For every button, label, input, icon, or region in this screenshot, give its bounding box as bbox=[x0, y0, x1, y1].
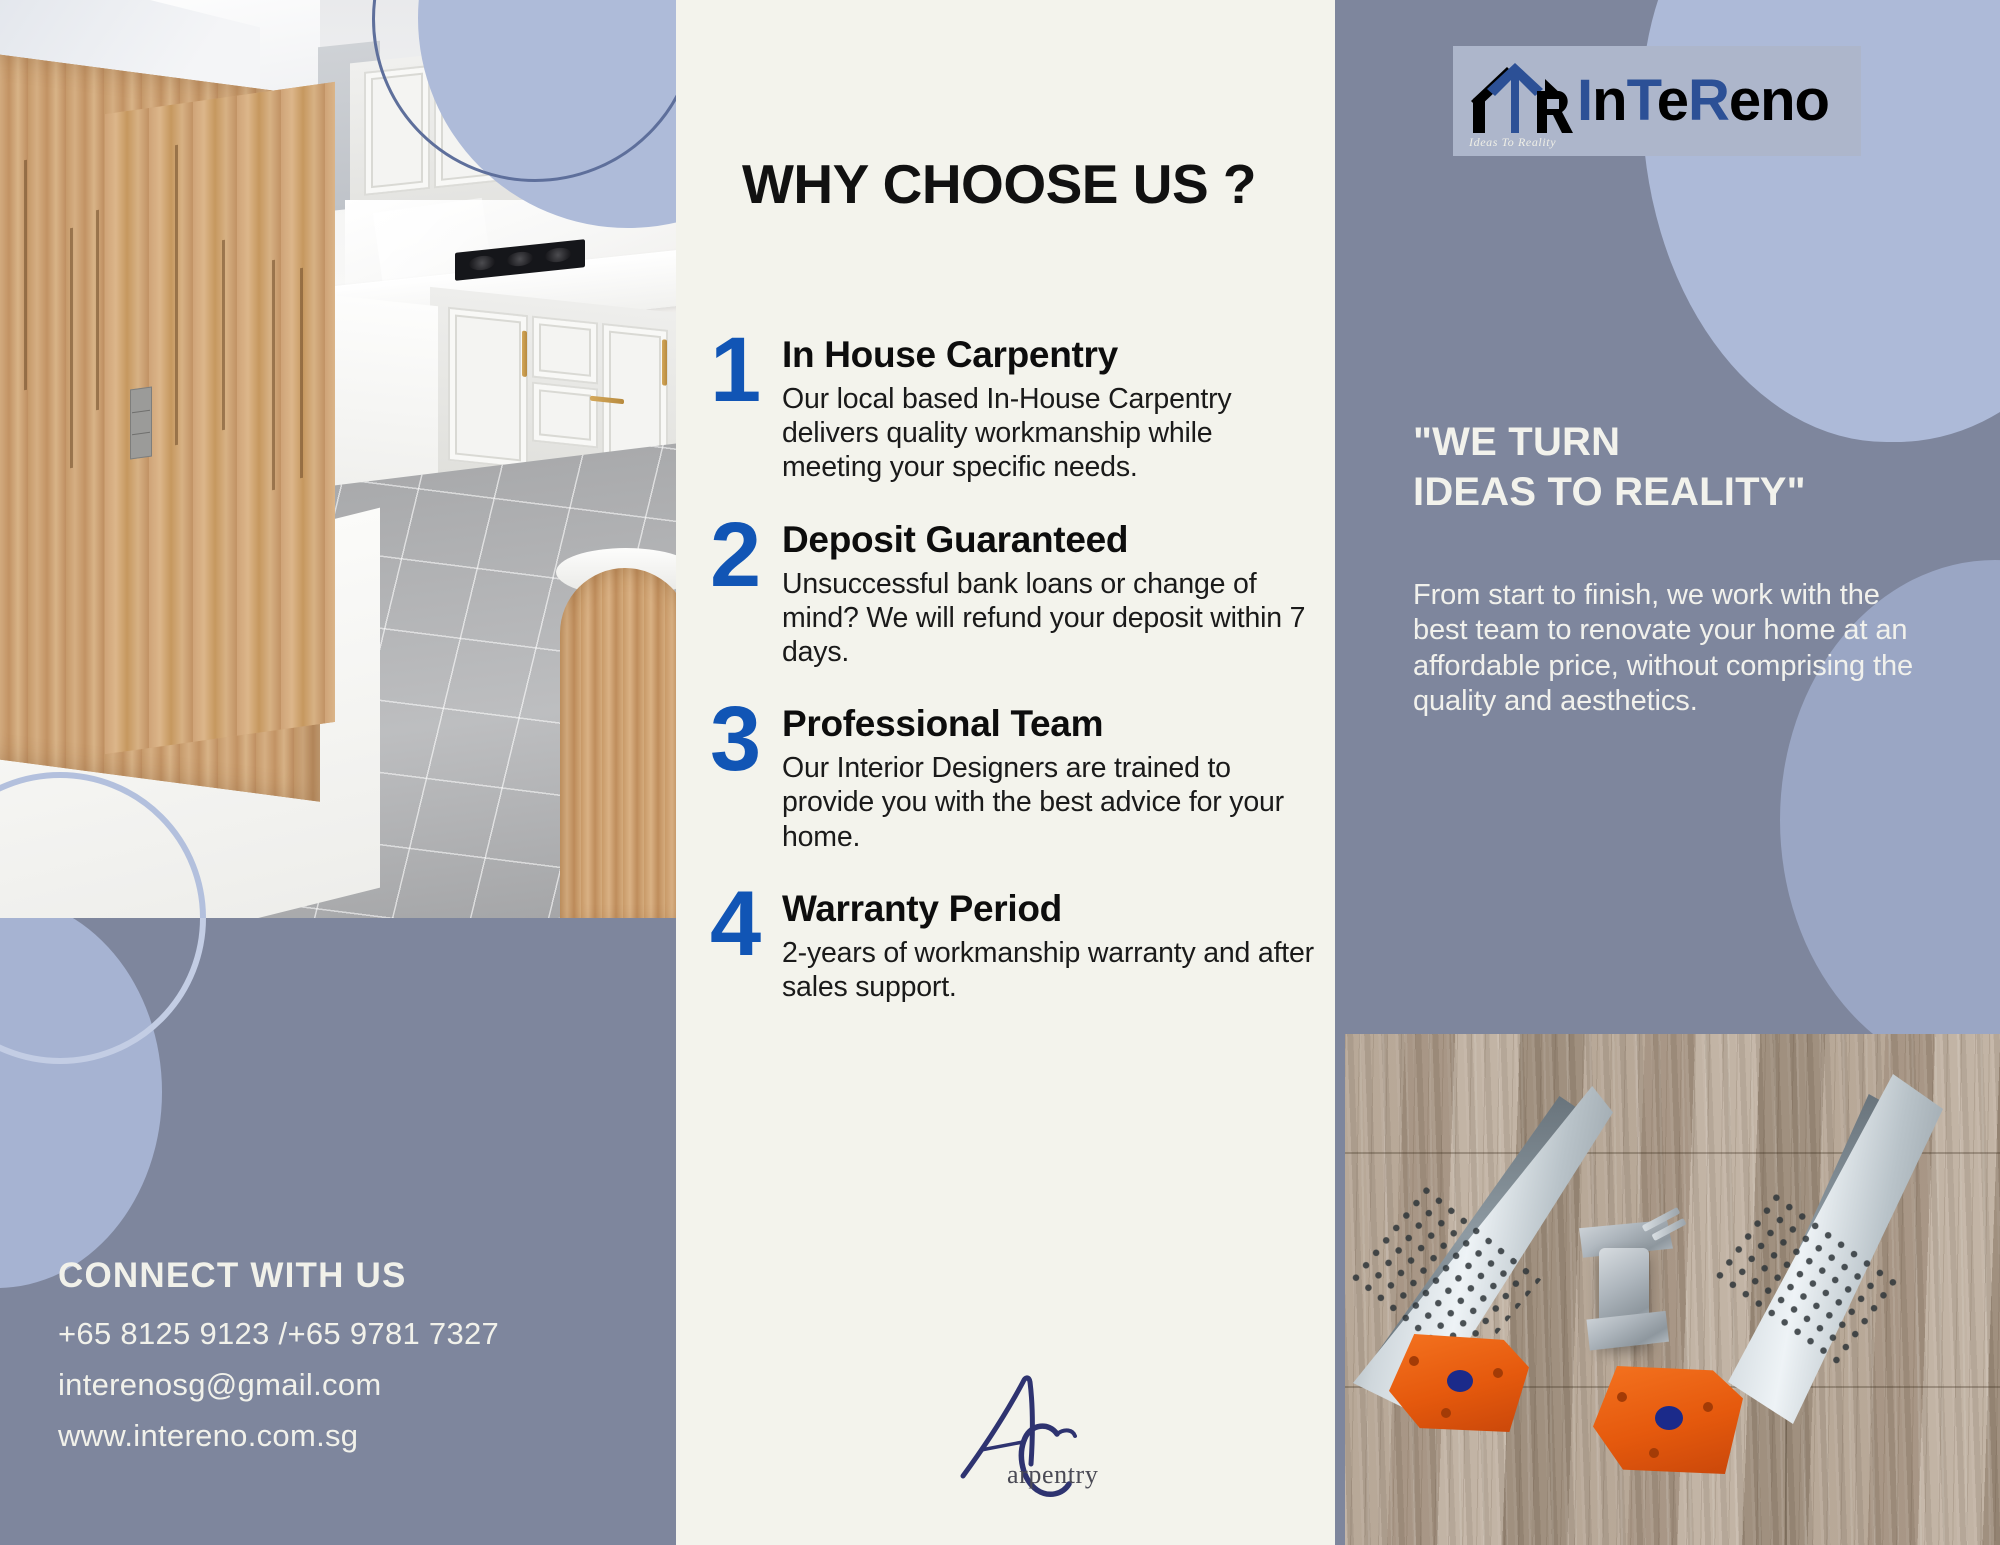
email-address[interactable]: interenosg@gmail.com bbox=[58, 1367, 638, 1403]
ac-carpentry-watermark: arpentry bbox=[945, 1372, 1115, 1507]
photo-burner bbox=[507, 251, 533, 268]
tagline-line-2: IDEAS TO REALITY" bbox=[1413, 468, 1933, 518]
drawer-slides-hardware-photo bbox=[1345, 1034, 2000, 1545]
feature-title: Professional Team bbox=[782, 703, 1320, 745]
photo-cabinet-handle bbox=[662, 339, 667, 386]
logo-wordmark: InTeReno bbox=[1577, 72, 1829, 130]
feature-item: 4 Warranty Period 2-years of workmanship… bbox=[710, 884, 1320, 1004]
feature-description: Our Interior Designers are trained to pr… bbox=[782, 751, 1320, 854]
feature-title: Warranty Period bbox=[782, 888, 1320, 930]
logo-letter: I bbox=[1577, 68, 1592, 133]
photo-clip-blue-lever bbox=[1655, 1406, 1683, 1430]
photo-clip-hole bbox=[1441, 1408, 1451, 1418]
logo-letter: e bbox=[1657, 68, 1688, 133]
photo-wood-groove bbox=[272, 260, 275, 490]
website-url[interactable]: www.intereno.com.sg bbox=[58, 1418, 638, 1454]
photo-wood-groove bbox=[222, 240, 225, 430]
feature-number: 4 bbox=[710, 884, 782, 965]
feature-number: 3 bbox=[710, 699, 782, 780]
ac-wordmark: arpentry bbox=[1007, 1460, 1098, 1490]
connect-with-us-title: CONNECT WITH US bbox=[58, 1256, 638, 1296]
logo-letter: R bbox=[1688, 68, 1729, 133]
feature-number: 2 bbox=[710, 515, 782, 596]
tagline-line-1: "WE TURN bbox=[1413, 418, 1933, 468]
feature-item: 2 Deposit Guaranteed Unsuccessful bank l… bbox=[710, 515, 1320, 670]
photo-clip-blue-lever bbox=[1447, 1370, 1473, 1392]
contact-block: CONNECT WITH US +65 8125 9123 /+65 9781 … bbox=[58, 1256, 638, 1469]
photo-clip-hole bbox=[1703, 1402, 1713, 1412]
photo-clip-hole bbox=[1409, 1356, 1419, 1366]
tagline-quote: "WE TURN IDEAS TO REALITY" bbox=[1413, 418, 1933, 517]
photo-cabinet-door bbox=[448, 307, 528, 469]
feature-title: Deposit Guaranteed bbox=[782, 519, 1320, 561]
logo-letter: eno bbox=[1729, 68, 1829, 133]
feature-description: Unsuccessful bank loans or change of min… bbox=[782, 567, 1320, 670]
logo-tagline: Ideas To Reality bbox=[1469, 135, 1556, 150]
logo-letter: T bbox=[1627, 68, 1657, 133]
photo-orange-clip-right bbox=[1593, 1366, 1743, 1474]
photo-clip-hole bbox=[1493, 1368, 1503, 1378]
photo-wood-groove bbox=[70, 228, 73, 468]
decorative-ring bbox=[0, 918, 206, 1064]
photo-wood-groove bbox=[24, 160, 27, 390]
page-title: WHY CHOOSE US ? bbox=[742, 152, 1256, 216]
feature-description: Our local based In-House Carpentry deliv… bbox=[782, 382, 1320, 485]
photo-clip-hole bbox=[1649, 1448, 1659, 1458]
features-list: 1 In House Carpentry Our local based In-… bbox=[710, 330, 1320, 1034]
center-column: WHY CHOOSE US ? 1 In House Carpentry Our… bbox=[676, 0, 1335, 1545]
about-paragraph: From start to finish, we work with the b… bbox=[1413, 578, 1933, 720]
photo-wood-groove bbox=[175, 145, 178, 445]
photo-clip-hole bbox=[1617, 1392, 1627, 1402]
photo-burner bbox=[469, 255, 495, 272]
brochure-page: CONNECT WITH US +65 8125 9123 /+65 9781 … bbox=[0, 0, 2000, 1545]
photo-wood-groove bbox=[96, 210, 99, 410]
feature-number: 1 bbox=[710, 330, 782, 411]
house-roof-icon: Ideas To Reality bbox=[1463, 55, 1575, 147]
feature-item: 1 In House Carpentry Our local based In-… bbox=[710, 330, 1320, 485]
photo-burner bbox=[545, 247, 571, 264]
photo-drawer-front bbox=[532, 382, 598, 449]
kitchen-interior-photo bbox=[0, 0, 676, 918]
feature-description: 2-years of workmanship warranty and afte… bbox=[782, 936, 1320, 1004]
phone-numbers[interactable]: +65 8125 9123 /+65 9781 7327 bbox=[58, 1316, 638, 1352]
photo-cabinet-handle bbox=[522, 331, 527, 378]
feature-title: In House Carpentry bbox=[782, 334, 1320, 376]
photo-fluted-island bbox=[560, 568, 676, 918]
feature-item: 3 Professional Team Our Interior Designe… bbox=[710, 699, 1320, 854]
photo-light-switch bbox=[130, 386, 152, 459]
photo-wood-groove bbox=[300, 268, 303, 478]
logo-letter: n bbox=[1592, 68, 1626, 133]
photo-drawer-front bbox=[532, 316, 598, 385]
house-roof-svg bbox=[1463, 55, 1575, 135]
brand-logo: Ideas To Reality InTeReno bbox=[1453, 46, 1861, 156]
